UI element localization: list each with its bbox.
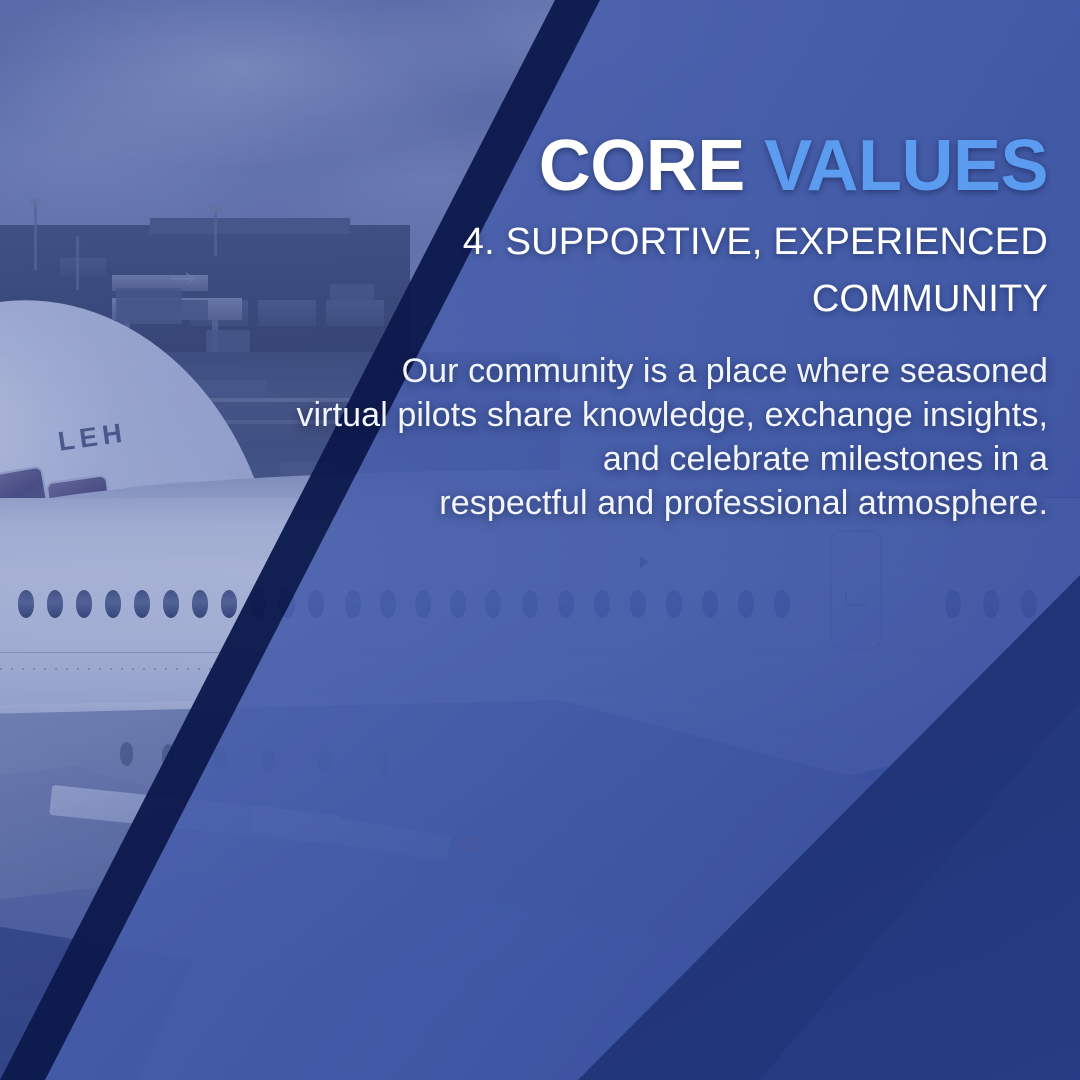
description-line: virtual pilots share knowledge, exchange…: [288, 393, 1048, 437]
description-line: and celebrate milestones in a: [288, 437, 1048, 481]
page-title: CORE VALUES: [288, 0, 1048, 204]
title-word-core: CORE: [539, 126, 745, 206]
text-content-block: CORE VALUES 4. SUPPORTIVE, EXPERIENCED C…: [288, 0, 1048, 526]
title-word-values: VALUES: [764, 126, 1048, 206]
value-description: Our community is a place where seasoned …: [288, 349, 1048, 526]
value-subtitle: 4. SUPPORTIVE, EXPERIENCED COMMUNITY: [288, 214, 1048, 326]
description-line: Our community is a place where seasoned: [288, 349, 1048, 393]
description-line: respectful and professional atmosphere.: [288, 481, 1048, 525]
core-values-poster: LEH: [0, 0, 1080, 1080]
